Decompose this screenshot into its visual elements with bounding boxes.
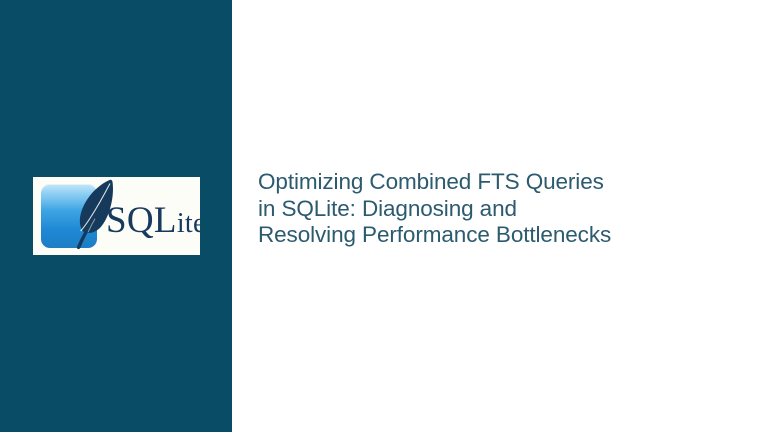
page-title: Optimizing Combined FTS Queries in SQLit… xyxy=(258,169,754,249)
page-title-line-2: in SQLite: Diagnosing and xyxy=(258,196,754,223)
slide-canvas: SQLite Optimizing Combined FTS Queries i… xyxy=(0,0,768,432)
sqlite-logo-inner: SQLite xyxy=(33,177,200,255)
sqlite-wordmark-small: ite xyxy=(177,208,200,239)
sqlite-logo: SQLite xyxy=(33,177,200,255)
page-title-line-1: Optimizing Combined FTS Queries xyxy=(258,169,754,196)
page-title-line-3: Resolving Performance Bottlenecks xyxy=(258,222,754,249)
sqlite-wordmark: SQLite xyxy=(106,202,200,239)
sqlite-wordmark-big: SQL xyxy=(106,200,177,241)
